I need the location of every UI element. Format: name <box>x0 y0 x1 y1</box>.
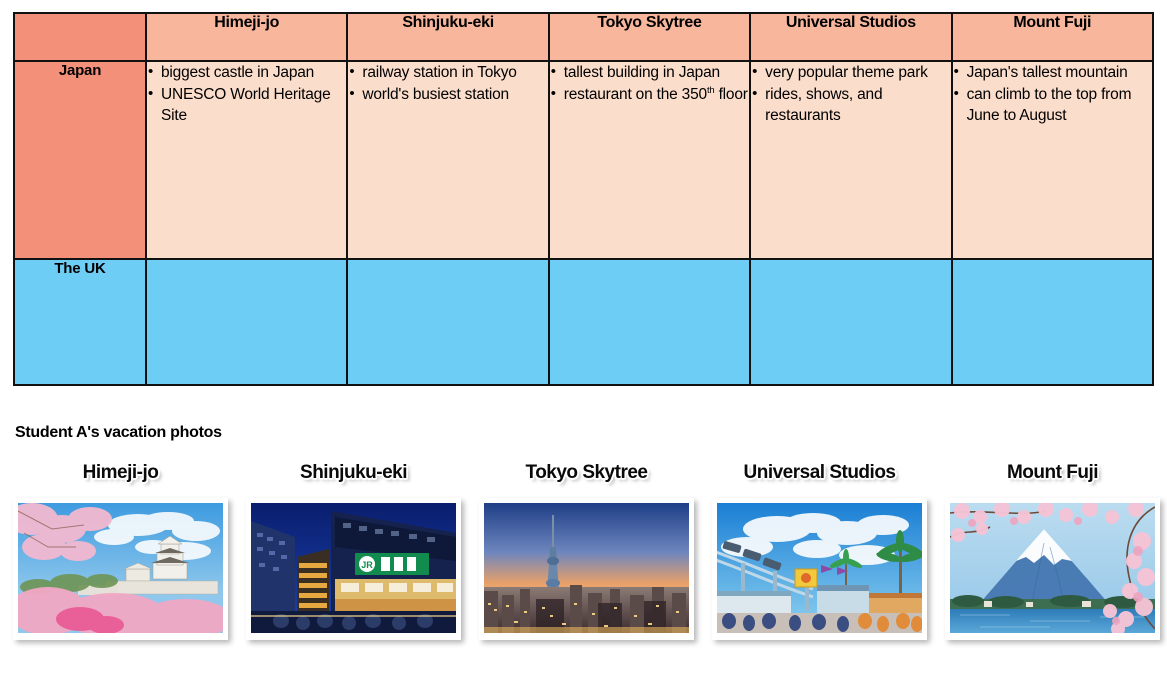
facts-list: Japan's tallest mountain can climb to th… <box>953 62 1152 126</box>
facts-list: tallest building in Japan restaurant on … <box>550 62 749 105</box>
facts-list: railway station in Tokyo world's busiest… <box>348 62 547 105</box>
row-label-japan: Japan <box>14 61 146 259</box>
fact-text-after: floor <box>714 86 747 103</box>
row-label-the-uk: The UK <box>14 259 146 385</box>
photo-item-tokyo-skytree: Tokyo Skytree <box>479 462 694 640</box>
countries-comparison-table: Himeji-jo Shinjuku-eki Tokyo Skytree Uni… <box>13 12 1154 386</box>
cell-japan-shinjuku-eki: railway station in Tokyo world's busiest… <box>347 61 548 259</box>
column-header-himeji-jo: Himeji-jo <box>146 13 347 61</box>
photo-frame[interactable] <box>13 498 228 640</box>
table-row-japan: Japan biggest castle in Japan UNESCO Wor… <box>14 61 1153 259</box>
photo-image-fuji-lake-blossom <box>950 503 1155 633</box>
cell-japan-universal-studios: very popular theme park rides, shows, an… <box>750 61 951 259</box>
cell-uk-himeji-jo[interactable] <box>146 259 347 385</box>
photo-title-tokyo-skytree: Tokyo Skytree <box>526 462 648 484</box>
svg-text:JR: JR <box>361 560 373 570</box>
cell-uk-shinjuku-eki[interactable] <box>347 259 548 385</box>
photo-frame[interactable]: JR <box>246 498 461 640</box>
table-corner-cell <box>14 13 146 61</box>
fact-item-with-superscript: restaurant on the 350th floor <box>550 84 749 105</box>
photo-image-theme-park-coaster <box>717 503 922 633</box>
photo-title-universal-studios: Universal Studios <box>744 462 896 484</box>
cell-japan-mount-fuji: Japan's tallest mountain can climb to th… <box>952 61 1153 259</box>
fact-item: tallest building in Japan <box>550 62 749 83</box>
photo-item-himeji-jo: Himeji-jo <box>13 462 228 640</box>
column-header-universal-studios: Universal Studios <box>750 13 951 61</box>
table-header-row: Himeji-jo Shinjuku-eki Tokyo Skytree Uni… <box>14 13 1153 61</box>
photo-title-himeji-jo: Himeji-jo <box>83 462 159 484</box>
photo-image-castle-cherry-blossom <box>18 503 223 633</box>
photo-item-shinjuku-eki: Shinjuku-eki <box>246 462 461 640</box>
photo-title-shinjuku-eki: Shinjuku-eki <box>300 462 407 484</box>
facts-list: very popular theme park rides, shows, an… <box>751 62 950 126</box>
column-header-mount-fuji: Mount Fuji <box>952 13 1153 61</box>
cell-uk-mount-fuji[interactable] <box>952 259 1153 385</box>
photos-section-caption: Student A's vacation photos <box>15 424 222 442</box>
fact-text-before: restaurant on the 350 <box>564 86 707 103</box>
fact-item: can climb to the top from June to August <box>953 84 1152 126</box>
fact-item: biggest castle in Japan <box>147 62 346 83</box>
facts-list: biggest castle in Japan UNESCO World Her… <box>147 62 346 126</box>
column-header-shinjuku-eki: Shinjuku-eki <box>347 13 548 61</box>
cell-uk-universal-studios[interactable] <box>750 259 951 385</box>
cell-uk-tokyo-skytree[interactable] <box>549 259 750 385</box>
fact-item: railway station in Tokyo <box>348 62 547 83</box>
cell-japan-himeji-jo: biggest castle in Japan UNESCO World Her… <box>146 61 347 259</box>
vacation-photo-strip: Himeji-jo <box>13 462 1154 640</box>
fact-item: rides, shows, and restaurants <box>751 84 950 126</box>
table-row-uk: The UK <box>14 259 1153 385</box>
photo-frame[interactable] <box>712 498 927 640</box>
photo-title-mount-fuji: Mount Fuji <box>1007 462 1098 484</box>
photo-image-skytree-sunset-cityscape <box>484 503 689 633</box>
cell-japan-tokyo-skytree: tallest building in Japan restaurant on … <box>549 61 750 259</box>
fact-item: UNESCO World Heritage Site <box>147 84 346 126</box>
photo-item-universal-studios: Universal Studios <box>712 462 927 640</box>
fact-item: Japan's tallest mountain <box>953 62 1152 83</box>
photo-frame[interactable] <box>945 498 1160 640</box>
photo-image-station-night-city: JR <box>251 503 456 633</box>
photo-item-mount-fuji: Mount Fuji <box>945 462 1160 640</box>
column-header-tokyo-skytree: Tokyo Skytree <box>549 13 750 61</box>
photo-frame[interactable] <box>479 498 694 640</box>
fact-item: very popular theme park <box>751 62 950 83</box>
fact-item: world's busiest station <box>348 84 547 105</box>
